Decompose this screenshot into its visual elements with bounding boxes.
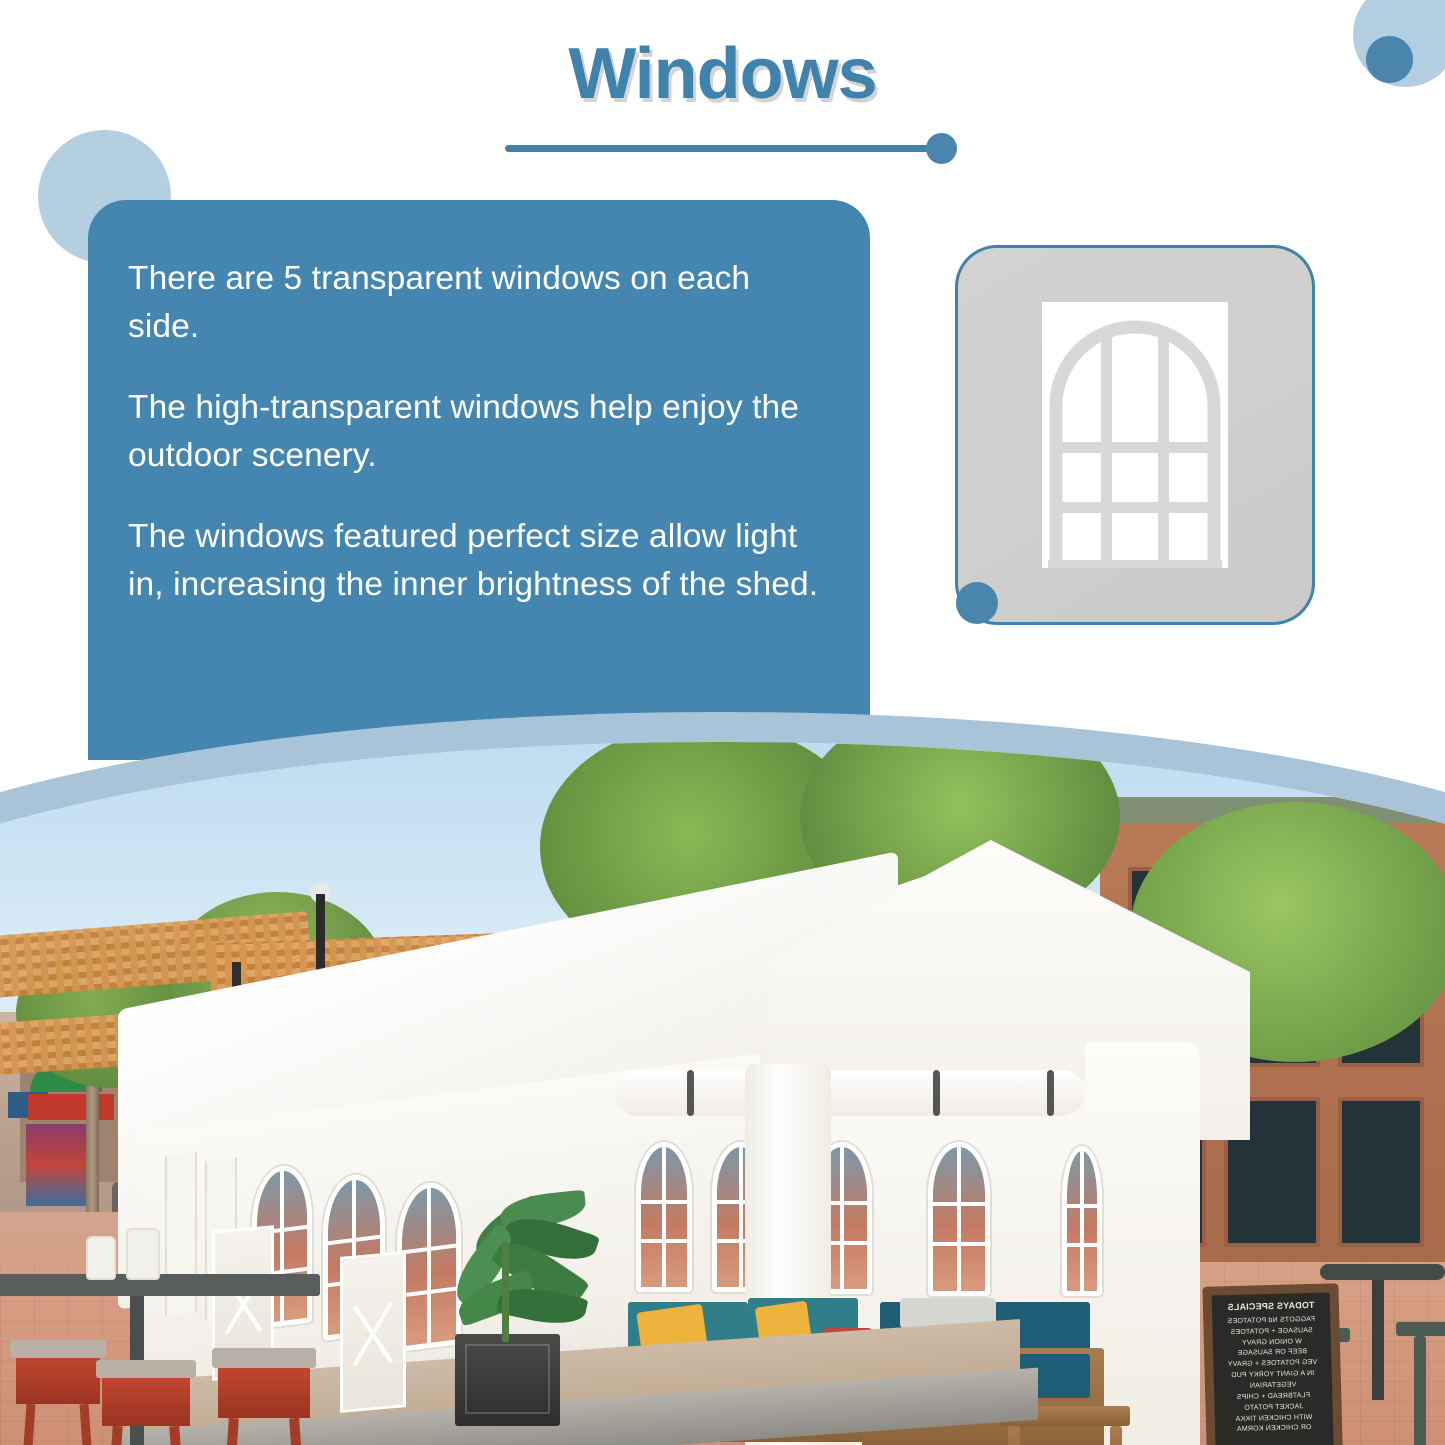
photo-street-sign xyxy=(28,1094,114,1120)
feature-text-card: There are 5 transparent windows on each … xyxy=(88,200,870,760)
photo-poster-column xyxy=(26,1124,94,1206)
page-title: Windows xyxy=(568,34,876,114)
product-photo: TODAYS SPECIALS FAGGOTS Nd POTATOES SAUS… xyxy=(0,742,1445,1445)
photo-plant-stem xyxy=(502,1242,509,1342)
photo-plaza-stool-leg xyxy=(1414,1336,1426,1445)
photo-tent-window xyxy=(928,1142,990,1296)
photo-bench-leg xyxy=(1110,1426,1122,1445)
photo-table-lantern xyxy=(86,1236,116,1280)
window-icon-panel xyxy=(955,245,1315,625)
title-block: Windows xyxy=(0,38,1445,110)
chalkboard-item: OR CHICKEN KORMA xyxy=(1220,1423,1328,1437)
chalkboard-title: TODAYS SPECIALS xyxy=(1217,1299,1325,1316)
photo-bench-leg xyxy=(1008,1426,1020,1445)
arched-window-icon xyxy=(1042,302,1228,568)
product-photo-zone: TODAYS SPECIALS FAGGOTS Nd POTATOES SAUS… xyxy=(0,690,1445,1445)
title-underline-bar xyxy=(505,145,933,152)
photo-tent-window xyxy=(397,1179,461,1352)
photo-plaza-table xyxy=(1320,1264,1445,1280)
feature-paragraph-2: The high-transparent windows help enjoy … xyxy=(128,384,822,479)
photo-outdoor-table xyxy=(0,1274,320,1296)
photo-tent-valance xyxy=(615,1070,1085,1116)
feature-paragraph-1: There are 5 transparent windows on each … xyxy=(128,255,822,350)
title-underline xyxy=(505,133,957,167)
photo-plant-pot xyxy=(455,1334,560,1426)
photo-plaza-stool xyxy=(1396,1322,1445,1336)
photo-tent-window xyxy=(636,1142,692,1292)
photo-deck-lantern xyxy=(340,1251,406,1413)
photo-chalkboard-sign: TODAYS SPECIALS FAGGOTS Nd POTATOES SAUS… xyxy=(1202,1283,1343,1445)
icon-panel-corner-dot-icon xyxy=(956,582,998,624)
photo-tent-window xyxy=(1062,1146,1102,1296)
product-photo-frame: TODAYS SPECIALS FAGGOTS Nd POTATOES SAUS… xyxy=(0,742,1445,1445)
chalkboard-surface: TODAYS SPECIALS FAGGOTS Nd POTATOES SAUS… xyxy=(1212,1292,1334,1445)
title-underline-dot-icon xyxy=(926,133,957,164)
photo-plaza-table-leg xyxy=(1372,1280,1384,1400)
photo-table-lantern xyxy=(126,1228,160,1280)
feature-paragraph-3: The windows featured perfect size allow … xyxy=(128,513,822,608)
